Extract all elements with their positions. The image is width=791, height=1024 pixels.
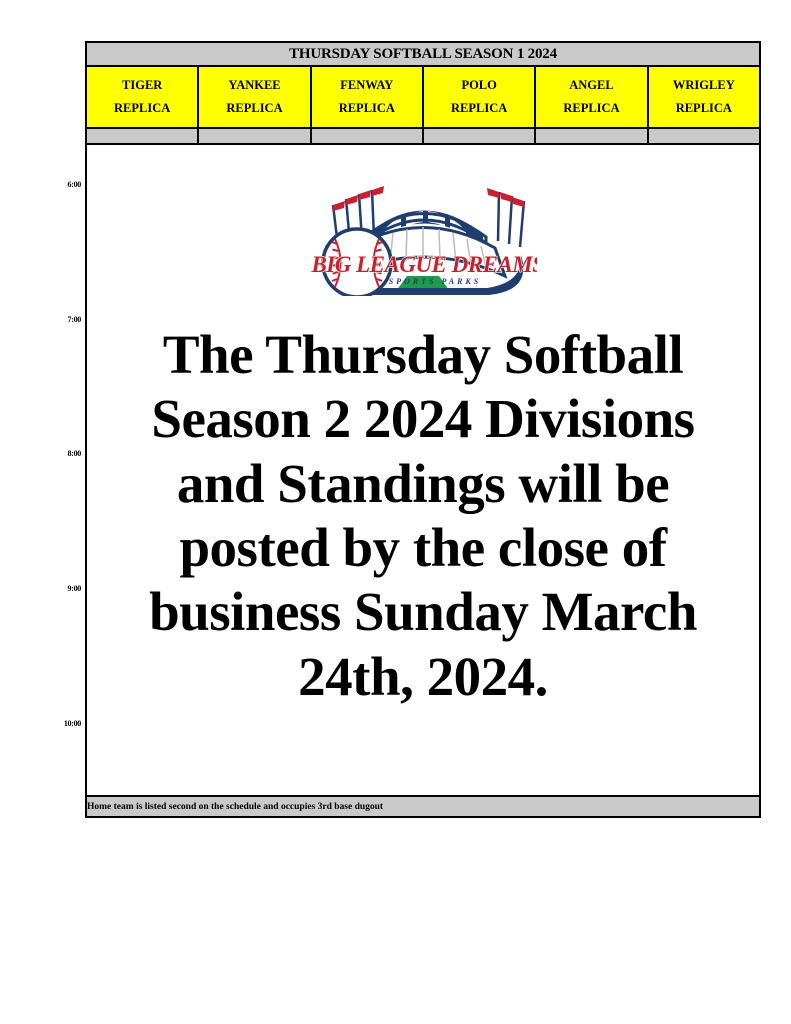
field-header-tiger[interactable]: TIGER REPLICA: [86, 66, 198, 128]
schedule-title-row: THURSDAY SOFTBALL SEASON 1 2024: [86, 42, 760, 66]
footer-note: Home team is listed second on the schedu…: [86, 796, 760, 817]
schedule-footer-row: Home team is listed second on the schedu…: [86, 796, 760, 817]
spacer-cell-6: [648, 128, 760, 144]
field-suffix-fenway: REPLICA: [312, 102, 422, 116]
field-name-fenway: FENWAY: [312, 79, 422, 102]
field-header-wrigley[interactable]: WRIGLEY REPLICA: [648, 66, 760, 128]
schedule-page: 6:00 7:00 8:00 9:00 10:00 THURSDAY SOFTB…: [0, 0, 791, 1024]
field-header-polo[interactable]: POLO REPLICA: [423, 66, 535, 128]
field-header-row: TIGER REPLICA YANKEE REPLICA FENWAY REPL…: [86, 66, 760, 128]
schedule-body-row: [86, 144, 760, 796]
schedule-table: THURSDAY SOFTBALL SEASON 1 2024 TIGER RE…: [85, 41, 761, 818]
spacer-cell-3: [311, 128, 423, 144]
field-header-yankee[interactable]: YANKEE REPLICA: [198, 66, 310, 128]
time-label-8: 8:00: [21, 449, 81, 458]
time-label-6: 6:00: [21, 180, 81, 189]
field-name-yankee: YANKEE: [199, 79, 309, 102]
time-label-10: 10:00: [21, 719, 81, 728]
field-name-wrigley: WRIGLEY: [649, 79, 759, 102]
field-name-polo: POLO: [424, 79, 534, 102]
time-label-9: 9:00: [21, 584, 81, 593]
field-header-angel[interactable]: ANGEL REPLICA: [535, 66, 647, 128]
time-axis: 6:00 7:00 8:00 9:00 10:00: [15, 0, 81, 1024]
spacer-cell-1: [86, 128, 198, 144]
field-suffix-polo: REPLICA: [424, 102, 534, 116]
field-suffix-yankee: REPLICA: [199, 102, 309, 116]
field-name-tiger: TIGER: [87, 79, 197, 102]
spacer-cell-2: [198, 128, 310, 144]
time-label-7: 7:00: [21, 315, 81, 324]
page-title: THURSDAY SOFTBALL SEASON 1 2024: [86, 42, 760, 66]
field-name-angel: ANGEL: [536, 79, 646, 102]
spacer-cell-5: [535, 128, 647, 144]
field-suffix-tiger: REPLICA: [87, 102, 197, 116]
spacer-row: [86, 128, 760, 144]
field-suffix-angel: REPLICA: [536, 102, 646, 116]
field-suffix-wrigley: REPLICA: [649, 102, 759, 116]
spacer-cell-4: [423, 128, 535, 144]
field-header-fenway[interactable]: FENWAY REPLICA: [311, 66, 423, 128]
schedule-body: [86, 144, 760, 796]
